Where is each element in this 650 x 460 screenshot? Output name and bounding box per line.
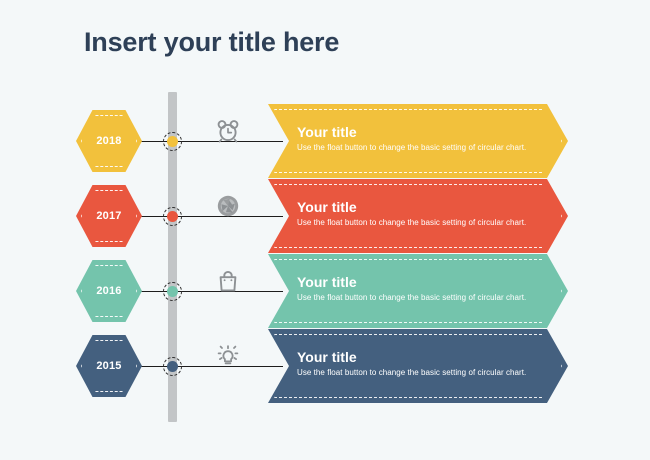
year-hexagon[interactable]: 2016 bbox=[76, 260, 142, 322]
timeline-marker-dot[interactable] bbox=[163, 282, 182, 301]
banner-description: Use the float button to change the basic… bbox=[297, 367, 534, 378]
year-label: 2017 bbox=[76, 185, 142, 247]
year-hexagon[interactable]: 2015 bbox=[76, 335, 142, 397]
connector-line bbox=[133, 141, 283, 142]
year-label: 2018 bbox=[76, 110, 142, 172]
year-label: 2016 bbox=[76, 260, 142, 322]
connector-line bbox=[133, 291, 283, 292]
timeline-marker-dot[interactable] bbox=[163, 132, 182, 151]
banner-text-group: Your title Use the float button to chang… bbox=[297, 274, 534, 303]
timeline-marker-dot[interactable] bbox=[163, 207, 182, 226]
timeline-marker-fill bbox=[167, 136, 178, 147]
timeline-marker-dot[interactable] bbox=[163, 357, 182, 376]
year-hexagon[interactable]: 2017 bbox=[76, 185, 142, 247]
aperture-icon bbox=[211, 191, 245, 221]
banner-text-group: Your title Use the float button to chang… bbox=[297, 124, 534, 153]
connector-line bbox=[133, 366, 283, 367]
timeline-row: 2015 Your title Use the float butto bbox=[0, 329, 650, 405]
shopping-bag-icon bbox=[211, 266, 245, 296]
infographic-canvas: Insert your title here 2018 Your ti bbox=[0, 0, 650, 460]
timeline-row: 2017 Your title Use the float button to … bbox=[0, 179, 650, 255]
alarm-clock-icon bbox=[211, 116, 245, 146]
banner-title: Your title bbox=[297, 349, 534, 365]
content-banner[interactable]: Your title Use the float button to chang… bbox=[268, 254, 568, 328]
timeline-marker-fill bbox=[167, 211, 178, 222]
connector-line bbox=[133, 216, 283, 217]
banner-title: Your title bbox=[297, 199, 534, 215]
banner-title: Your title bbox=[297, 274, 534, 290]
banner-text-group: Your title Use the float button to chang… bbox=[297, 349, 534, 378]
banner-text-group: Your title Use the float button to chang… bbox=[297, 199, 534, 228]
timeline-row: 2016 Your title Use the float button to … bbox=[0, 254, 650, 330]
banner-title: Your title bbox=[297, 124, 534, 140]
timeline-marker-fill bbox=[167, 361, 178, 372]
banner-description: Use the float button to change the basic… bbox=[297, 292, 534, 303]
banner-description: Use the float button to change the basic… bbox=[297, 142, 534, 153]
timeline-row: 2018 Your title Use the float button to … bbox=[0, 104, 650, 180]
content-banner[interactable]: Your title Use the float button to chang… bbox=[268, 104, 568, 178]
content-banner[interactable]: Your title Use the float button to chang… bbox=[268, 179, 568, 253]
content-banner[interactable]: Your title Use the float button to chang… bbox=[268, 329, 568, 403]
banner-description: Use the float button to change the basic… bbox=[297, 217, 534, 228]
year-label: 2015 bbox=[76, 335, 142, 397]
page-title: Insert your title here bbox=[84, 27, 339, 58]
year-hexagon[interactable]: 2018 bbox=[76, 110, 142, 172]
timeline-marker-fill bbox=[167, 286, 178, 297]
lightbulb-icon bbox=[211, 341, 245, 371]
